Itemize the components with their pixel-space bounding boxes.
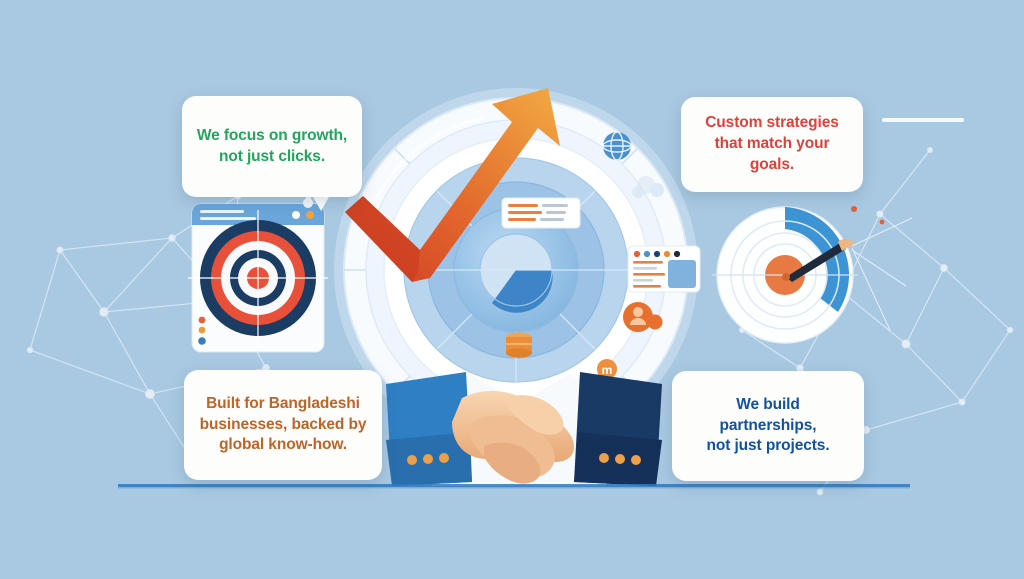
- ground-line: [118, 484, 910, 487]
- callout-partnerships[interactable]: We build partnerships, not just projects…: [672, 371, 864, 481]
- callout-growth-text: We focus on growth, not just clicks.: [197, 126, 347, 168]
- callout-growth[interactable]: We focus on growth, not just clicks.: [182, 96, 362, 197]
- illustration-scene: m: [0, 0, 1024, 579]
- mesh-accent-node: [851, 206, 857, 212]
- callout-bangladeshi[interactable]: Built for Bangladeshi businesses, backed…: [184, 370, 382, 480]
- svg-text:m: m: [602, 363, 613, 377]
- tooltip-card: [502, 198, 580, 228]
- ground-line-shadow: [118, 487, 910, 488]
- callout-bangladeshi-text: Built for Bangladeshi businesses, backed…: [200, 394, 367, 456]
- mesh-accent-node: [880, 220, 885, 225]
- browser-bullseye-card: [188, 204, 328, 352]
- callout-partnerships-text: We build partnerships, not just projects…: [686, 395, 850, 457]
- callout-growth-tail: [312, 195, 330, 211]
- callout-strategies[interactable]: Custom strategies that match your goals.: [681, 97, 863, 192]
- decorative-rule: [882, 118, 964, 122]
- illustration-artwork: m: [0, 0, 1024, 579]
- database-icon: [506, 332, 532, 357]
- globe-badge-icon: [603, 132, 631, 160]
- callout-strategies-text: Custom strategies that match your goals.: [695, 113, 849, 175]
- mini-dashboard-card: [628, 246, 700, 292]
